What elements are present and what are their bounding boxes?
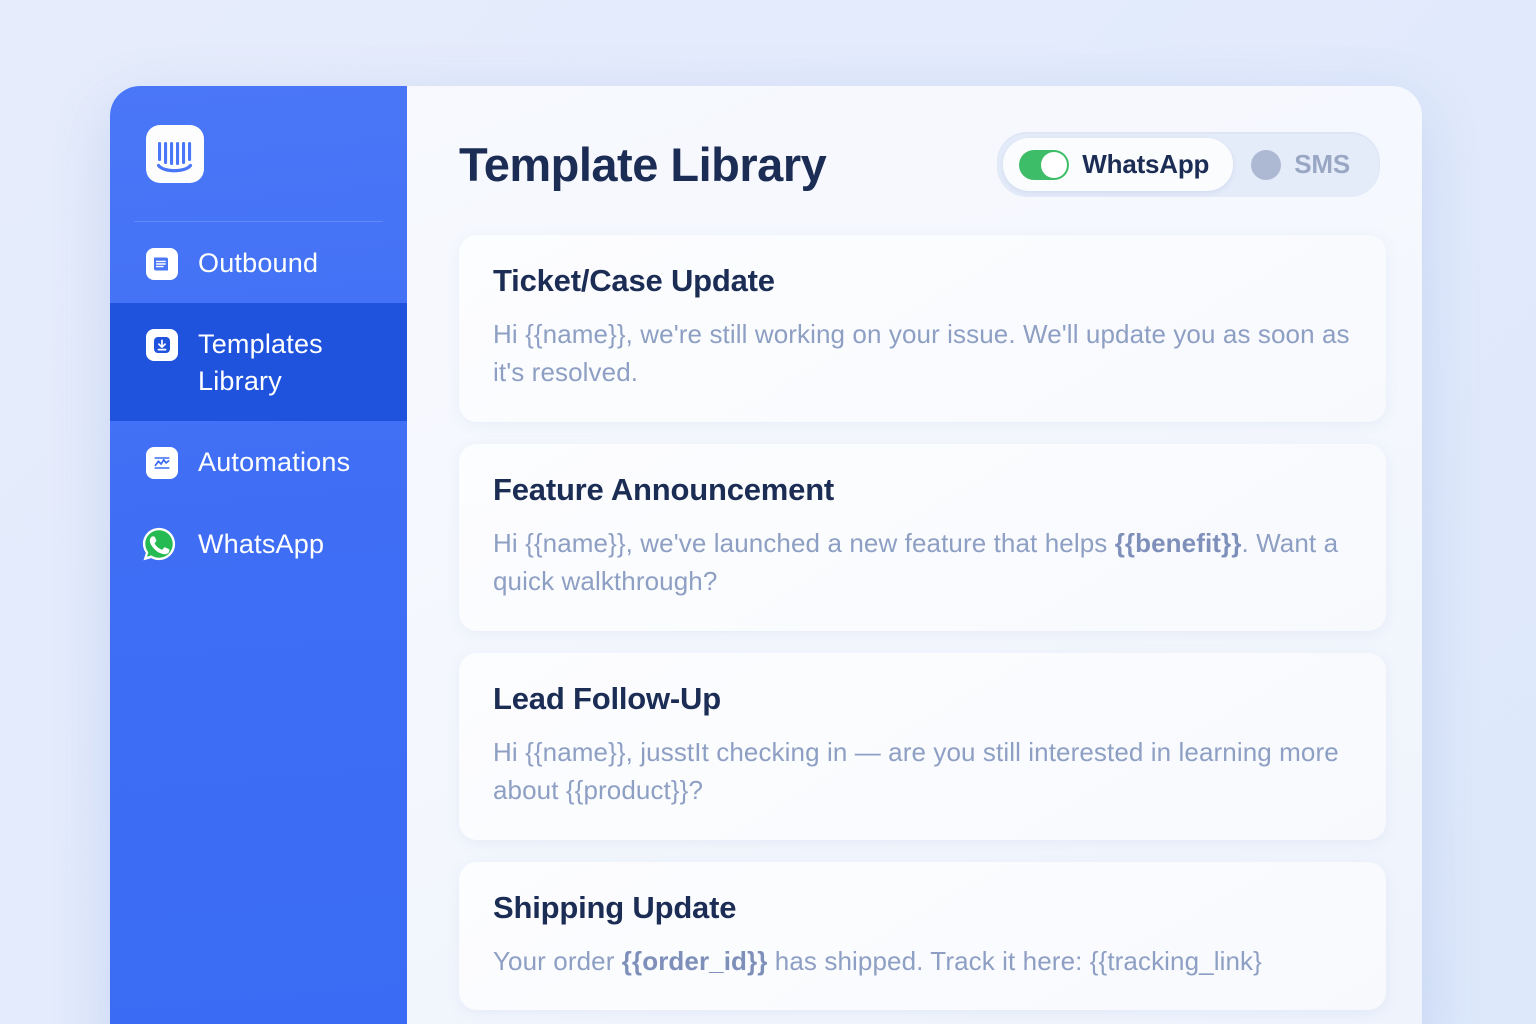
intercom-logo-icon[interactable] <box>146 125 204 183</box>
sidebar-item-whatsapp[interactable]: WhatsApp <box>110 503 407 584</box>
sidebar-item-label: Templates Library <box>198 325 383 399</box>
chart-line-icon <box>146 447 178 479</box>
main-content: Template Library WhatsApp SMS Ticket/Cas… <box>407 86 1422 1024</box>
template-body: Hi {{name}}, we've launched a new featur… <box>493 524 1352 601</box>
sidebar-item-label: WhatsApp <box>198 525 324 562</box>
template-card[interactable]: Shipping Update Your order {{order_id}} … <box>459 862 1386 1010</box>
template-body: Hi {{name}}, we're still working on your… <box>493 315 1352 392</box>
sidebar-item-outbound[interactable]: Outbound <box>110 222 407 303</box>
sidebar-item-templates-library[interactable]: Templates Library <box>110 303 407 421</box>
channel-option-sms[interactable]: SMS <box>1235 138 1374 191</box>
document-lines-icon <box>146 248 178 280</box>
template-body: Hi {{name}}, jusstIt checking in — are y… <box>493 733 1352 810</box>
whatsapp-logo-icon <box>146 529 178 561</box>
channel-option-whatsapp[interactable]: WhatsApp <box>1003 138 1233 191</box>
template-title: Feature Announcement <box>493 472 1352 508</box>
page-header: Template Library WhatsApp SMS <box>459 132 1386 197</box>
template-card[interactable]: Feature Announcement Hi {{name}}, we've … <box>459 444 1386 631</box>
template-card[interactable]: Ticket/Case Update Hi {{name}}, we're st… <box>459 235 1386 422</box>
template-card[interactable]: Lead Follow-Up Hi {{name}}, jusstIt chec… <box>459 653 1386 840</box>
channel-switcher[interactable]: WhatsApp SMS <box>997 132 1380 197</box>
template-list: Ticket/Case Update Hi {{name}}, we're st… <box>459 235 1386 1010</box>
sidebar-item-automations[interactable]: Automations <box>110 421 407 502</box>
sidebar: Outbound Templates Library <box>110 86 407 1024</box>
sidebar-item-label: Automations <box>198 443 350 480</box>
sidebar-item-label: Outbound <box>198 244 318 281</box>
channel-label: WhatsApp <box>1082 149 1209 180</box>
sidebar-nav: Outbound Templates Library <box>110 222 407 584</box>
template-title: Lead Follow-Up <box>493 681 1352 717</box>
radio-dot-icon[interactable] <box>1251 150 1281 180</box>
template-title: Shipping Update <box>493 890 1352 926</box>
channel-label: SMS <box>1294 149 1350 180</box>
toggle-knob <box>1041 152 1067 178</box>
brand-area <box>110 86 407 221</box>
app-window: Outbound Templates Library <box>110 86 1422 1024</box>
template-body: Your order {{order_id}} has shipped. Tra… <box>493 942 1352 980</box>
template-title: Ticket/Case Update <box>493 263 1352 299</box>
download-arrow-icon <box>146 329 178 361</box>
toggle-pill-icon[interactable] <box>1019 150 1069 180</box>
page-title: Template Library <box>459 137 826 192</box>
